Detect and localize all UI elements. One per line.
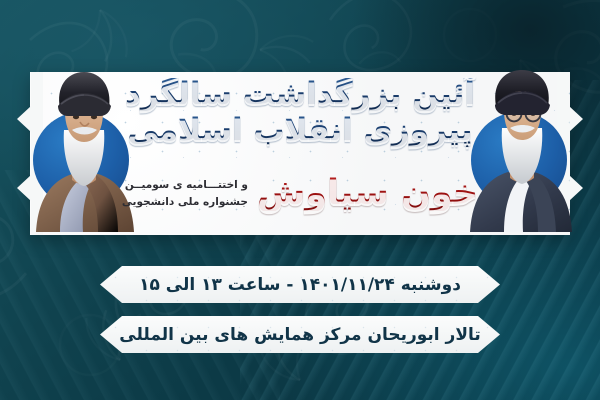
headline-block: آئین بزرگداشت سالگرد پیروزی انقلاب اسلام… bbox=[76, 78, 524, 147]
event-poster: آئین بزرگداشت سالگرد پیروزی انقلاب اسلام… bbox=[0, 0, 600, 400]
subtitle-block: و اختتـــامیه ی سومیــن جشنواره ملی دانش… bbox=[122, 177, 248, 210]
venue-text: تالار ابوریحان مرکز همایش های بین المللی bbox=[119, 325, 481, 345]
headline-line-1: آئین بزرگداشت سالگرد bbox=[76, 78, 524, 111]
festival-name: خون سیاوش bbox=[257, 176, 478, 211]
info-bar-date: دوشنبه ۱۴۰۱/۱۱/۲۴ - ساعت ۱۳ الی ۱۵ bbox=[100, 266, 500, 303]
festival-row: خون سیاوش و اختتـــامیه ی سومیــن جشنوار… bbox=[76, 176, 524, 211]
headline-line-2: پیروزی انقلاب اسلامی bbox=[76, 114, 524, 147]
subtitle-line-2: جشنواره ملی دانشجویی bbox=[122, 194, 248, 210]
subtitle-line-1: و اختتـــامیه ی سومیــن bbox=[122, 177, 248, 193]
date-text: دوشنبه ۱۴۰۱/۱۱/۲۴ - ساعت ۱۳ الی ۱۵ bbox=[139, 275, 461, 295]
info-bar-venue: تالار ابوریحان مرکز همایش های بین المللی bbox=[100, 316, 500, 353]
